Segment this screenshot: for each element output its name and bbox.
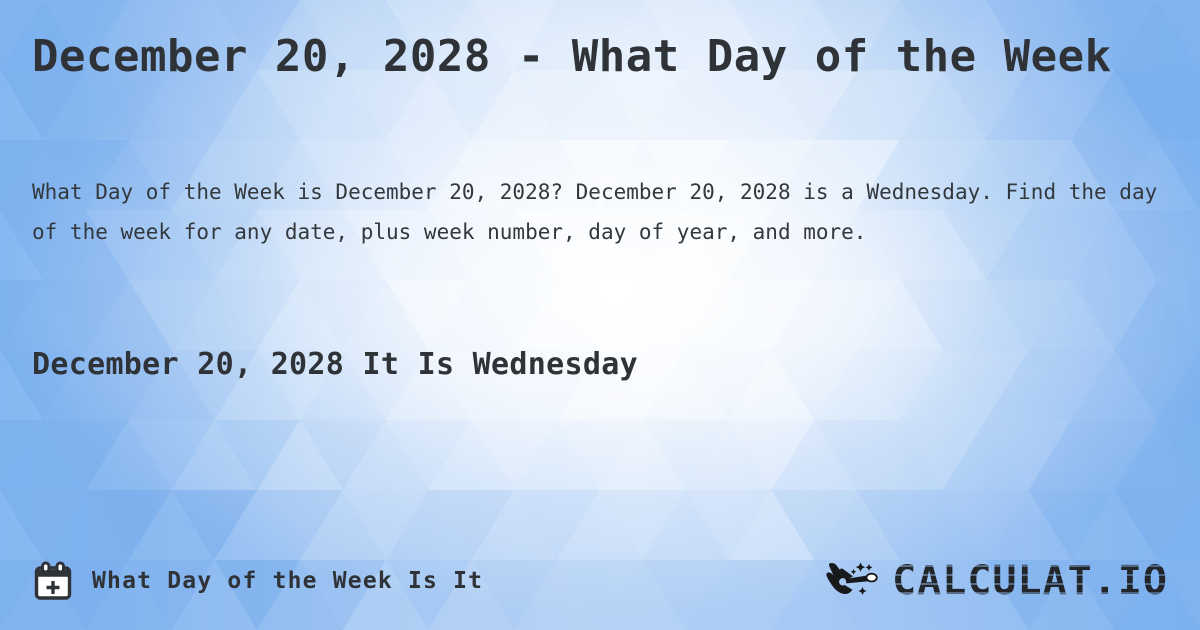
answer-heading: December 20, 2028 It Is Wednesday (32, 345, 638, 385)
content-area: December 20, 2028 - What Day of the Week… (0, 0, 1200, 630)
calendar-plus-icon (32, 560, 74, 602)
footer-label: What Day of the Week Is It (92, 568, 483, 594)
site-logo[interactable]: CALCULAT.IO (824, 559, 1168, 603)
magic-wand-hand-icon (824, 559, 886, 603)
footer-brand: What Day of the Week Is It (32, 560, 483, 602)
intro-paragraph: What Day of the Week is December 20, 202… (32, 172, 1164, 252)
footer: What Day of the Week Is It CALCULAT.IO (0, 558, 1200, 604)
og-image-canvas: December 20, 2028 - What Day of the Week… (0, 0, 1200, 630)
logo-text: CALCULAT.IO (892, 561, 1168, 601)
page-title: December 20, 2028 - What Day of the Week (32, 28, 1152, 86)
